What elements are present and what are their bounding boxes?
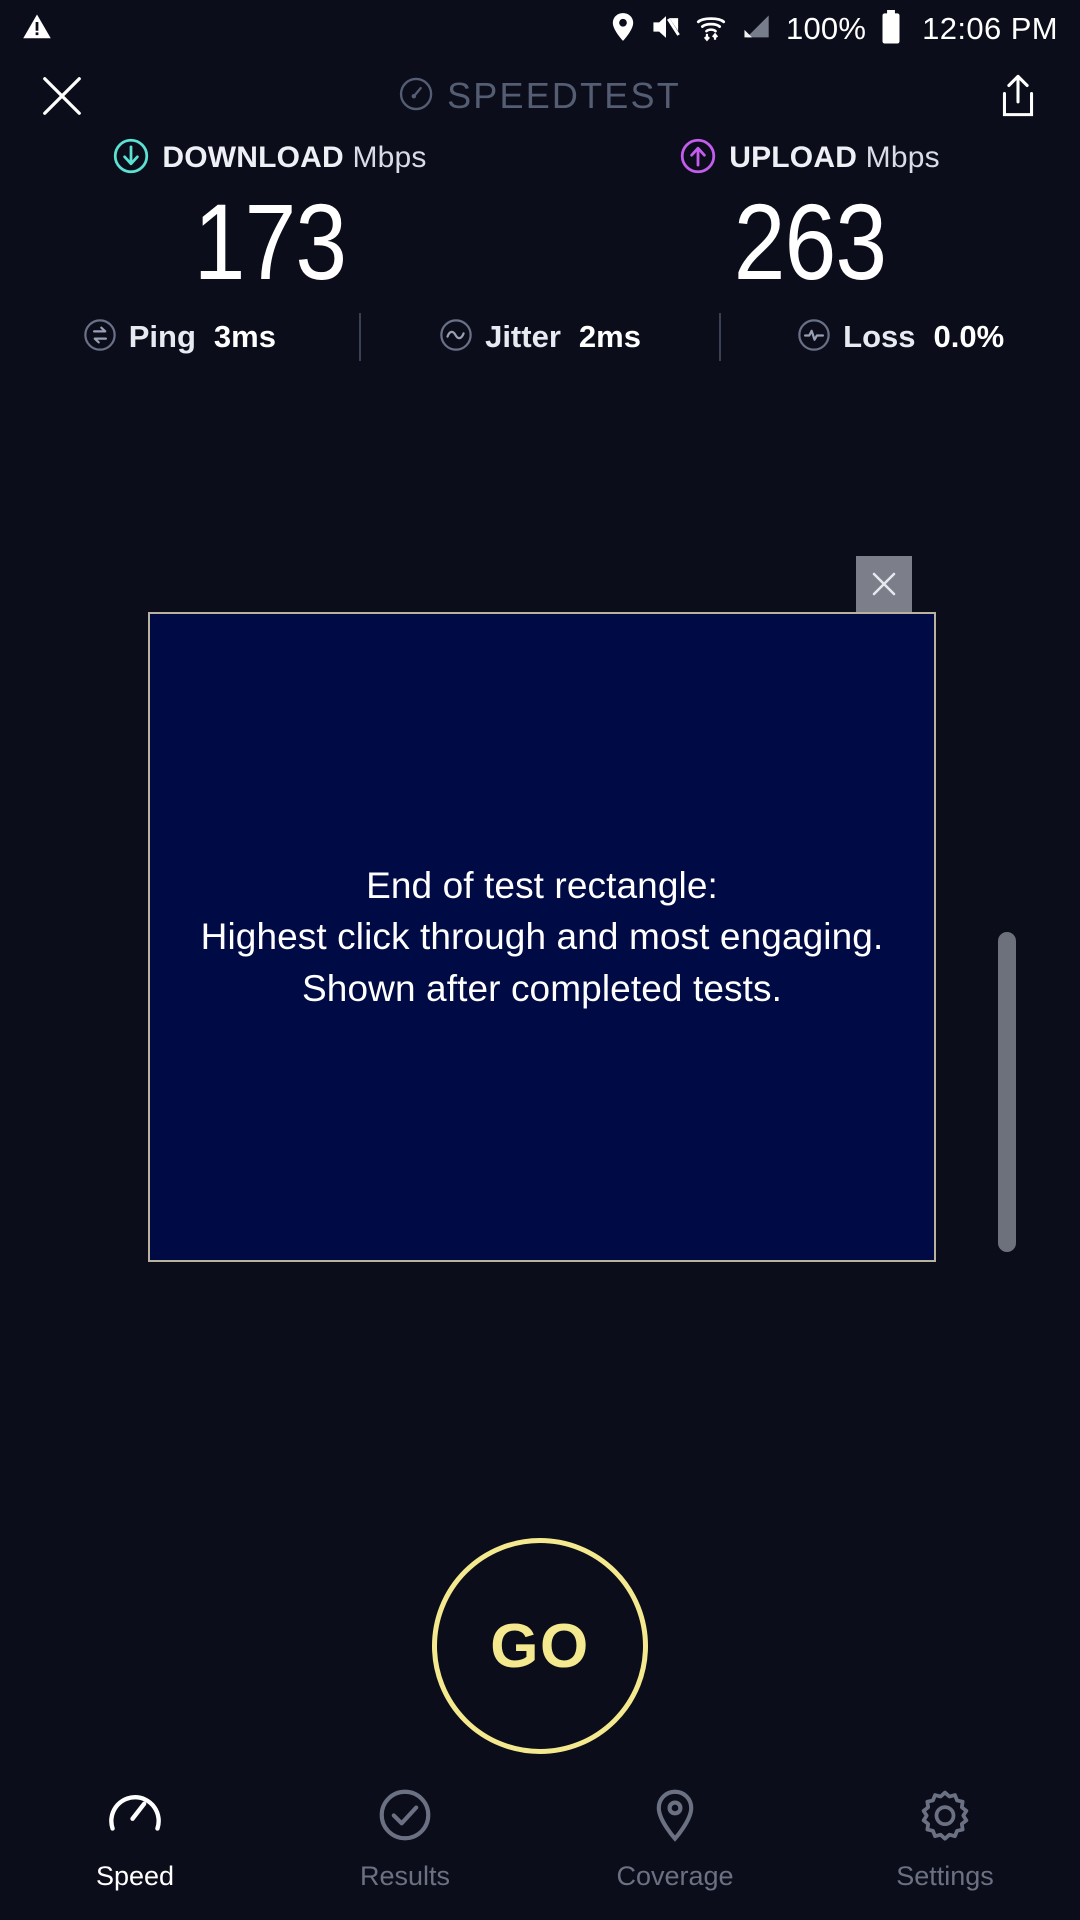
- download-metric: DOWNLOAD Mbps 173: [0, 134, 540, 296]
- speedometer-icon: [108, 1788, 162, 1847]
- status-bar-left: [22, 12, 52, 47]
- results-summary: DOWNLOAD Mbps 173 UPLOAD Mbps 263: [0, 134, 1080, 296]
- jitter-label: Jitter: [485, 319, 561, 355]
- ping-icon: [83, 318, 117, 357]
- close-button[interactable]: [30, 64, 94, 128]
- ad-line-1: End of test rectangle:: [201, 860, 884, 911]
- nav-label-results: Results: [360, 1861, 450, 1892]
- jitter-value: 2ms: [579, 319, 641, 355]
- loss-icon: [797, 318, 831, 357]
- loss-label: Loss: [843, 319, 915, 355]
- check-circle-icon: [378, 1788, 432, 1847]
- status-bar-clock: 12:06 PM: [922, 11, 1058, 47]
- nav-item-settings[interactable]: Settings: [810, 1760, 1080, 1920]
- status-bar: 100% 12:06 PM: [0, 0, 1080, 58]
- scrollbar-thumb[interactable]: [998, 932, 1016, 1252]
- close-icon: [39, 73, 85, 119]
- status-bar-right: 100% 12:06 PM: [610, 10, 1058, 49]
- nav-item-speed[interactable]: Speed: [0, 1760, 270, 1920]
- nav-label-speed: Speed: [96, 1861, 174, 1892]
- nav-label-settings: Settings: [896, 1861, 994, 1892]
- close-icon: [869, 569, 899, 599]
- go-button-label: GO: [490, 1611, 589, 1682]
- app-title: SPEEDTEST: [447, 75, 681, 117]
- map-pin-icon: [648, 1788, 702, 1847]
- upload-label: UPLOAD Mbps: [729, 141, 940, 175]
- ping-label: Ping: [129, 319, 196, 355]
- jitter-icon: [439, 318, 473, 357]
- ad-line-2: Highest click through and most engaging.: [201, 911, 884, 962]
- download-header: DOWNLOAD Mbps: [0, 134, 540, 182]
- upload-header: UPLOAD Mbps: [540, 134, 1080, 182]
- download-label: DOWNLOAD Mbps: [162, 141, 426, 175]
- speedometer-icon: [399, 77, 433, 116]
- speedtest-app-screen: 100% 12:06 PM SP: [0, 0, 1080, 1920]
- location-pin-icon: [610, 12, 636, 47]
- connection-stats-row: Ping 3ms Jitter 2ms Loss 0.0%: [0, 306, 1080, 368]
- ad-line-3: Shown after completed tests.: [201, 963, 884, 1014]
- loss-value: 0.0%: [934, 319, 1005, 355]
- share-icon: [998, 74, 1038, 118]
- nav-label-coverage: Coverage: [616, 1861, 733, 1892]
- warning-triangle-icon: [22, 12, 52, 47]
- go-button[interactable]: GO: [432, 1538, 648, 1754]
- stat-loss: Loss 0.0%: [721, 318, 1080, 357]
- advertisement-banner[interactable]: End of test rectangle: Highest click thr…: [148, 612, 936, 1262]
- app-brand: SPEEDTEST: [399, 75, 681, 117]
- nav-item-results[interactable]: Results: [270, 1760, 540, 1920]
- download-upload-row: DOWNLOAD Mbps 173 UPLOAD Mbps 263: [0, 134, 1080, 296]
- arrow-down-circle-icon: [113, 138, 149, 179]
- cell-signal-icon: [740, 12, 772, 47]
- share-button[interactable]: [990, 66, 1046, 126]
- bottom-navigation-bar: Speed Results Coverage: [0, 1760, 1080, 1920]
- arrow-up-circle-icon: [680, 138, 716, 179]
- wifi-icon: [696, 12, 726, 47]
- upload-metric: UPLOAD Mbps 263: [540, 134, 1080, 296]
- gear-icon: [918, 1788, 972, 1847]
- download-value: 173: [38, 188, 502, 296]
- upload-value: 263: [578, 188, 1042, 296]
- ad-close-button[interactable]: [856, 556, 912, 612]
- ping-value: 3ms: [214, 319, 276, 355]
- nav-item-coverage[interactable]: Coverage: [540, 1760, 810, 1920]
- advertisement-container: End of test rectangle: Highest click thr…: [148, 612, 936, 1262]
- mute-icon: [650, 12, 682, 47]
- ad-text: End of test rectangle: Highest click thr…: [191, 860, 894, 1013]
- battery-full-icon: [880, 10, 902, 49]
- app-bar: SPEEDTEST: [0, 58, 1080, 134]
- stat-jitter: Jitter 2ms: [361, 318, 720, 357]
- stat-ping: Ping 3ms: [0, 318, 359, 357]
- battery-percent-label: 100%: [786, 11, 866, 47]
